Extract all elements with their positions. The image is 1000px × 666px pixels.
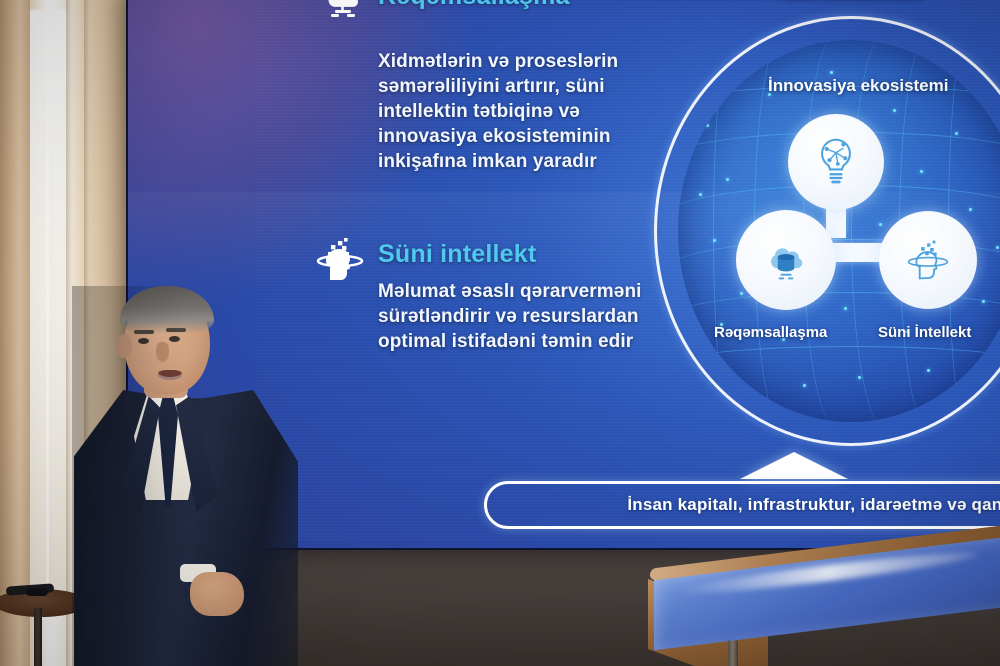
window-mullion [46,0,49,666]
hands [190,572,244,616]
nose [156,342,169,362]
hair [120,286,214,334]
table-object [26,588,48,596]
speaker [72,286,302,666]
eyebrow [166,328,186,332]
slide-text-block-digitalization: Rəqəmsallaşma Xidmətlərin və proseslərin… [378,0,638,174]
diagram-top-label: Kibertəhlükəsizlik [778,0,923,4]
eyebrow [134,330,154,334]
sphere-diagram: İnnovasiya ekosistemi Rəqəmsallaşma Süni… [636,6,1000,456]
cloud-database-icon [762,237,810,283]
node-ai[interactable] [879,211,977,309]
node-digitalization[interactable] [736,210,836,310]
cloud-database-icon [318,0,366,26]
lightbulb-network-icon [813,136,859,188]
slide-text-block-ai: Süni intellekt Məlumat əsaslı qərarvermə… [378,240,648,354]
eye [169,336,180,342]
label-ai: Süni İntellekt [878,324,971,341]
table-leg [728,641,738,666]
side-table-leg [34,608,42,666]
block-heading: Süni intellekt [378,240,648,269]
arrow-up-icon [740,452,848,479]
eye [138,338,149,344]
foundation-bar-text: İnsan kapitalı, infrastruktur, idarəetmə… [627,495,1000,515]
foundation-bar: İnsan kapitalı, infrastruktur, idarəetmə… [484,481,1000,529]
node-innovation[interactable] [788,114,884,210]
presentation-scene: Rəqəmsallaşma Xidmətlərin və proseslərin… [0,0,1000,666]
ear [116,334,132,358]
mouth [158,370,182,380]
label-digitalization: Rəqəmsallaşma [714,324,827,341]
block-body: Məlumat əsaslı qərarverməni sürətləndiri… [378,279,648,354]
ai-head-icon [314,236,366,288]
block-body: Xidmətlərin və proseslərin səmərəliliyin… [378,49,638,174]
curtain-left [0,0,30,666]
ai-head-icon [904,236,952,284]
label-innovation: İnnovasiya ekosistemi [768,76,948,96]
block-heading: Rəqəmsallaşma [378,0,638,11]
